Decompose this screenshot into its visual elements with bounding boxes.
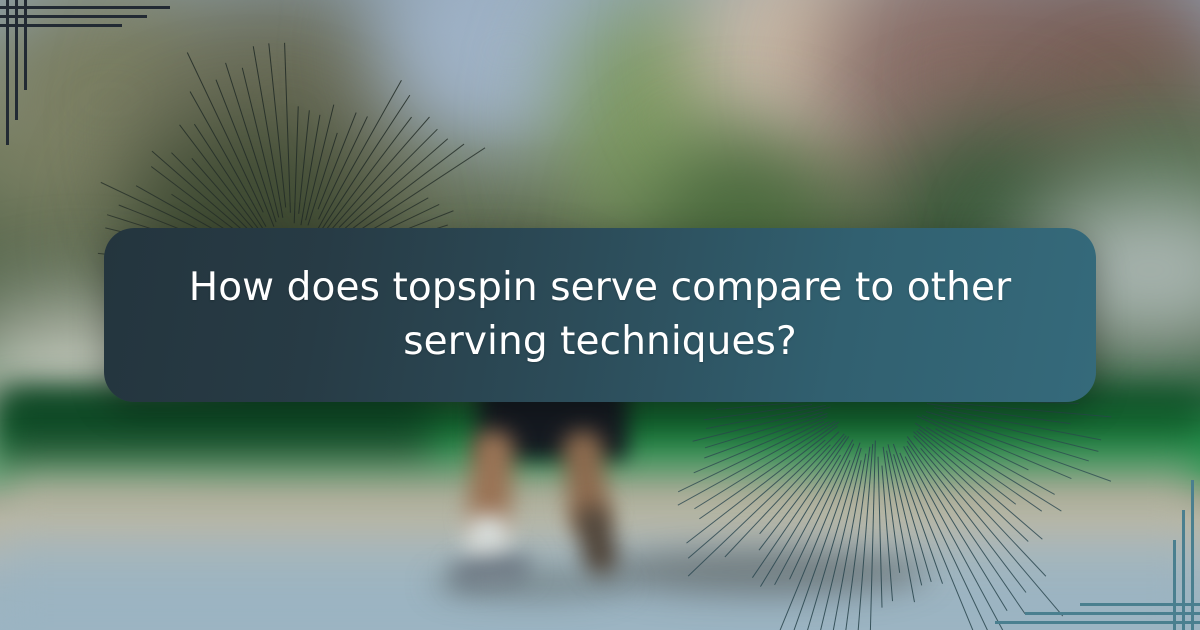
- question-text: How does topspin serve compare to other …: [170, 261, 1030, 369]
- court-back-wall-left: [0, 392, 430, 472]
- share-card-canvas: How does topspin serve compare to other …: [0, 0, 1200, 630]
- question-card: How does topspin serve compare to other …: [104, 228, 1096, 402]
